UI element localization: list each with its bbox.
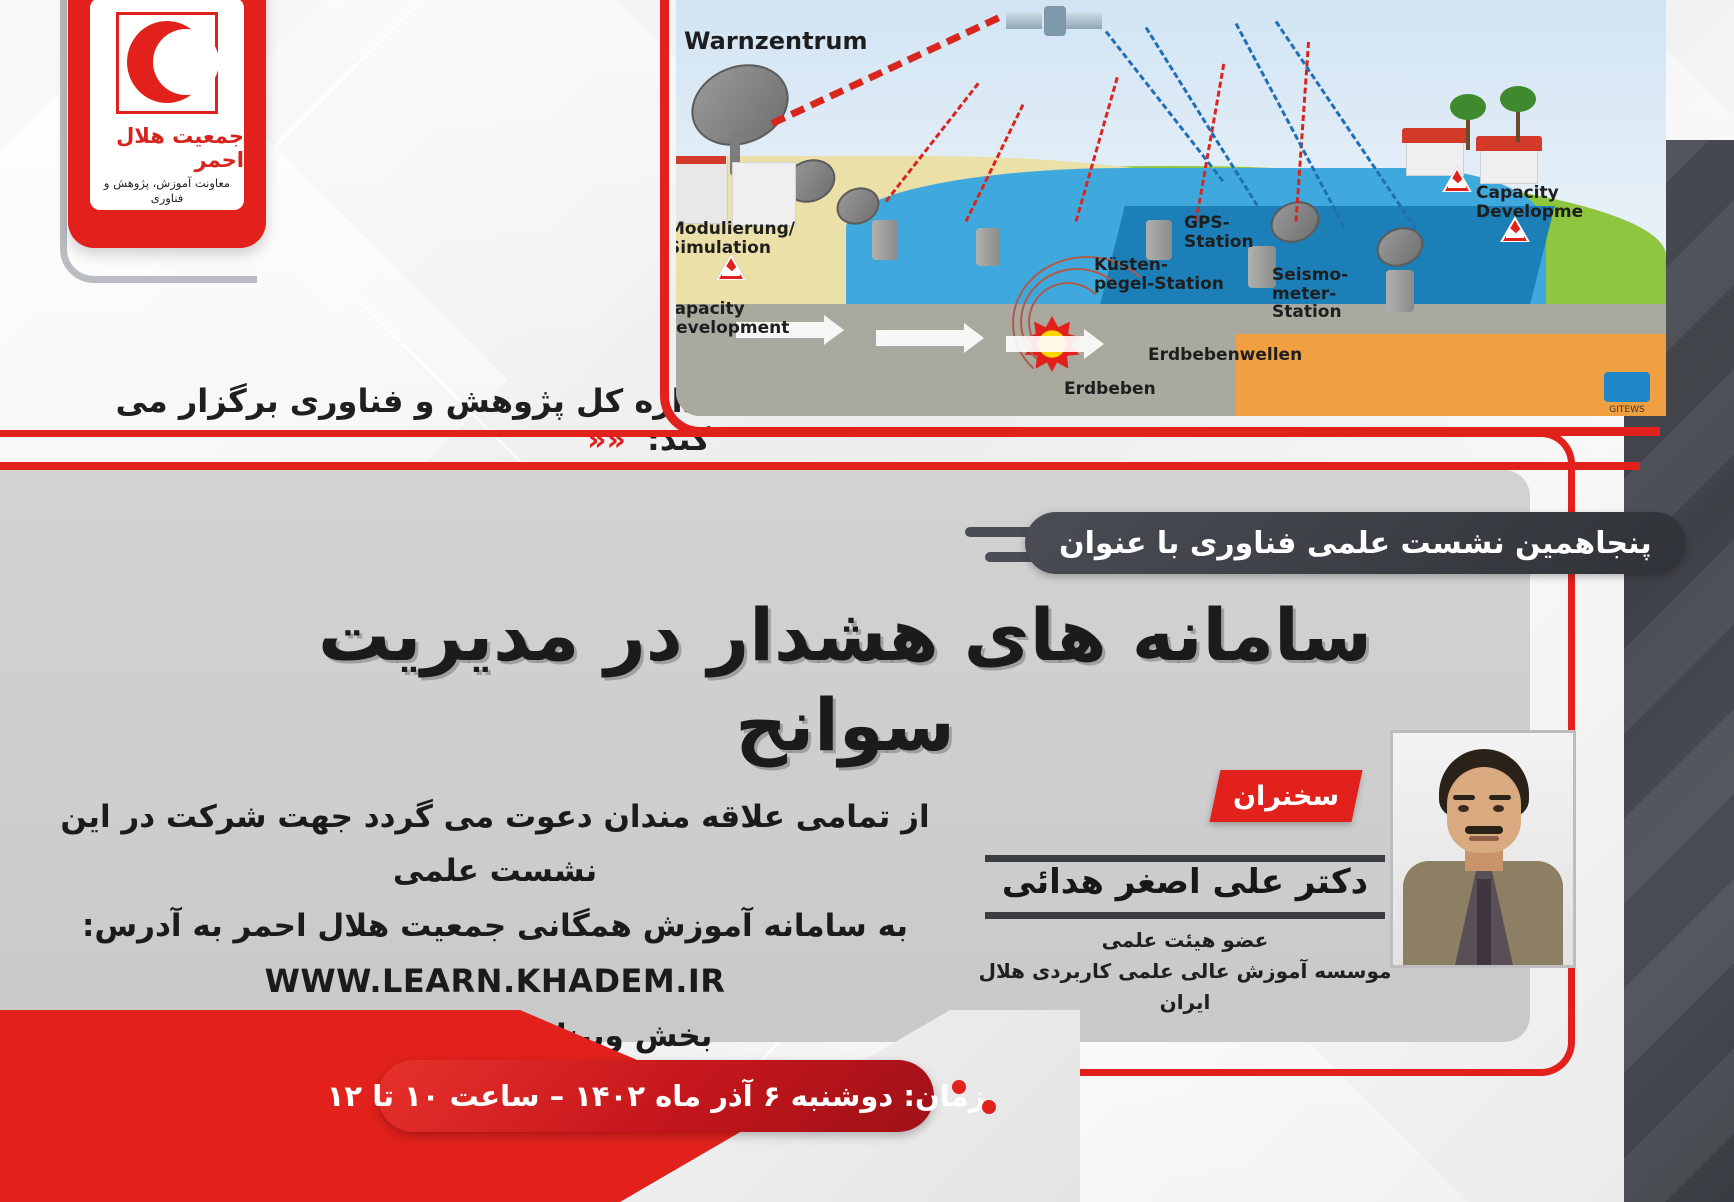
page-title: سامانه های هشدار در مدیریت سوانح xyxy=(300,590,1390,770)
datetime-pill: زمان: دوشنبه ۶ آذر ماه ۱۴۰۲ – ساعت ۱۰ تا… xyxy=(378,1060,934,1132)
diagram-frame xyxy=(660,0,1660,436)
red-crescent-icon xyxy=(116,12,218,114)
logo-title: جمعیت هلال احمر xyxy=(90,124,244,172)
invitation-line-1: از تمامی علاقه مندان دعوت می گردد جهت شر… xyxy=(50,790,940,899)
banner-tick xyxy=(965,527,1035,537)
speaker-badge: سخنران xyxy=(1215,770,1357,822)
speaker-affiliation: عضو هیئت علمی موسسه آموزش عالی علمی کارب… xyxy=(965,925,1405,1018)
website-url[interactable]: WWW.LEARN.KHADEM.IR xyxy=(50,953,940,1009)
affiliation-line-1: عضو هیئت علمی xyxy=(965,925,1405,956)
logo-card: جمعیت هلال احمر معاونت آموزش، پژوهش و فن… xyxy=(68,0,266,248)
invitation-line-2: به سامانه آموزش همگانی جمعیت هلال احمر ب… xyxy=(50,899,940,953)
speaker-portrait xyxy=(1390,730,1576,968)
datetime-text: زمان: دوشنبه ۶ آذر ماه ۱۴۰۲ – ساعت ۱۰ تا… xyxy=(327,1079,986,1113)
speaker-rule-bottom xyxy=(985,912,1385,919)
decor-dot xyxy=(982,1100,996,1114)
poster-root: جمعیت هلال احمر معاونت آموزش، پژوهش و فن… xyxy=(0,0,1734,1202)
speaker-rule-top xyxy=(985,855,1385,862)
decor-dot xyxy=(952,1080,966,1094)
affiliation-line-2: موسسه آموزش عالی علمی کاربردی هلال ایران xyxy=(965,956,1405,1018)
session-banner: پنجاهمین نشست علمی فناوری با عنوان xyxy=(1025,512,1686,574)
session-label: پنجاهمین نشست علمی فناوری با عنوان xyxy=(1059,526,1652,561)
speaker-name: دکتر علی اصغر هدائی xyxy=(985,862,1385,902)
logo-subtitle: معاونت آموزش، پژوهش و فناوری xyxy=(90,176,244,206)
